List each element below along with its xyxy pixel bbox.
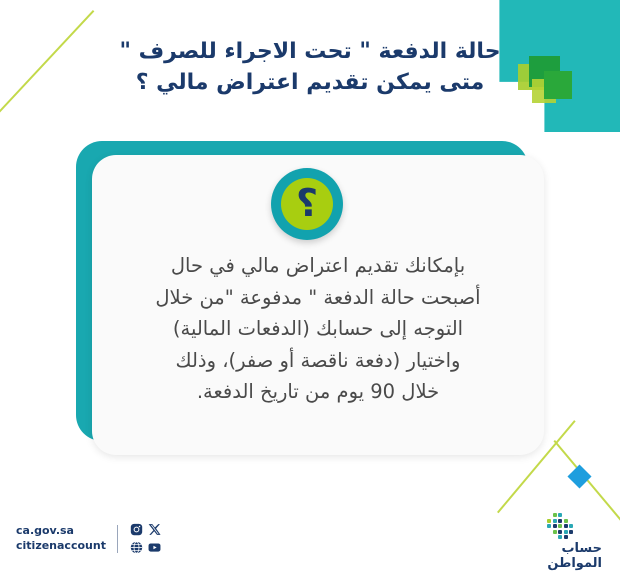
answer-line: واختيار (دفعة ناقصة أو صفر)، وذلك — [100, 345, 536, 377]
logo-text-line-1: حساب — [547, 542, 602, 557]
question-mark-icon: ؟ — [296, 184, 318, 222]
answer-line: أصبحت حالة الدفعة " مدفوعة "من خلال — [100, 282, 536, 314]
poster-root: حالة الدفعة " تحت الاجراء للصرف " متى يم… — [0, 0, 620, 577]
social-icon-grid — [129, 522, 162, 555]
answer-line: بإمكانك تقديم اعتراض مالي في حال — [100, 250, 536, 282]
footer-divider — [117, 525, 118, 553]
instagram-icon[interactable] — [129, 522, 144, 537]
footer-links: ca.gov.sa citizenaccount — [16, 524, 106, 552]
page-title: حالة الدفعة " تحت الاجراء للصرف " متى يم… — [0, 36, 620, 98]
footer-social-block: ca.gov.sa citizenaccount — [16, 522, 162, 555]
social-handle[interactable]: citizenaccount — [16, 539, 106, 553]
page-title-line-2: متى يمكن تقديم اعتراض مالي ؟ — [90, 67, 530, 98]
answer-line: خلال 90 يوم من تاريخ الدفعة. — [100, 376, 536, 408]
website-url[interactable]: ca.gov.sa — [16, 524, 106, 538]
logo-text-line-2: المواطن — [547, 557, 602, 572]
page-title-line-1: حالة الدفعة " تحت الاجراء للصرف " — [119, 39, 500, 64]
logo-text: حساب المواطن — [547, 542, 602, 571]
globe-icon[interactable] — [129, 540, 144, 555]
answer-body-text: بإمكانك تقديم اعتراض مالي في حال أصبحت ح… — [100, 250, 536, 408]
question-badge: ؟ — [281, 178, 333, 230]
x-icon[interactable] — [147, 522, 162, 537]
logo-dot-matrix-icon — [547, 513, 573, 539]
answer-line: التوجه إلى حسابك (الدفعات المالية) — [100, 313, 536, 345]
blue-diamond-decoration — [567, 464, 591, 488]
youtube-icon[interactable] — [147, 540, 162, 555]
brand-logo: حساب المواطن — [547, 513, 602, 571]
